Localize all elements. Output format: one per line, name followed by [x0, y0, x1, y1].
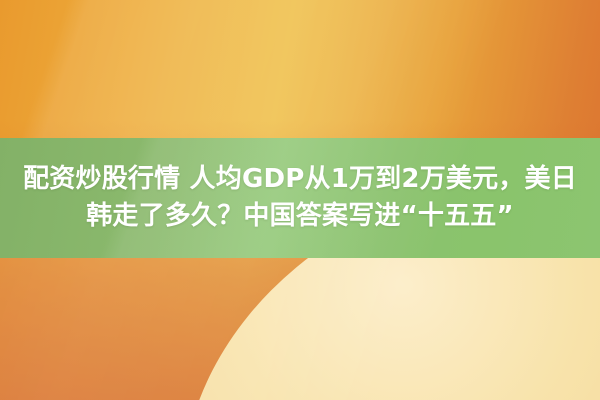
article-banner: 配资炒股行情 人均GDP从1万到2万美元，美日韩走了多久？中国答案写进“十五五” — [0, 0, 600, 400]
headline-container: 配资炒股行情 人均GDP从1万到2万美元，美日韩走了多久？中国答案写进“十五五” — [0, 138, 600, 258]
banner-headline: 配资炒股行情 人均GDP从1万到2万美元，美日韩走了多久？中国答案写进“十五五” — [14, 161, 586, 235]
